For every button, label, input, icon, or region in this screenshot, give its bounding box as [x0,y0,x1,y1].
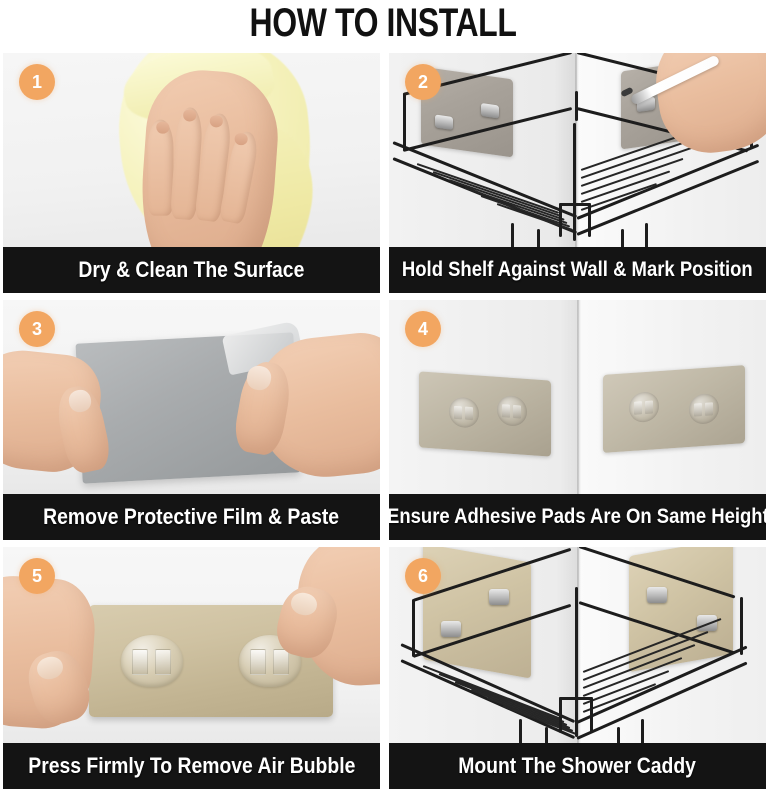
hand [136,67,282,247]
step-number-badge-3: 3 [19,311,55,347]
step-5-photo: 5 [3,547,380,743]
post-center [575,91,578,121]
hook-mount-left [121,635,183,687]
step-caption-text-1: Dry & Clean The Surface [79,257,305,283]
center-ridge [573,123,576,241]
step-number-badge-1: 1 [19,64,55,100]
pad-emboss-right-a [629,391,659,423]
wall-corner-seam [577,300,581,494]
step-1-photo: 1 [3,53,380,247]
step-caption-bar-1: Dry & Clean The Surface [3,247,380,293]
step-panel-1: 1 Dry & Clean The Surface [3,53,380,293]
step-3-photo: 3 [3,300,380,494]
step-6-photo: 6 [389,547,766,743]
adhesive-pad-left [419,371,551,456]
hook-left-b [537,229,540,247]
hook-right-b [641,719,644,743]
step-caption-bar-3: Remove Protective Film & Paste [3,494,380,540]
step-number-badge-5: 5 [19,558,55,594]
step-number-badge-2: 2 [405,64,441,100]
step-panel-3: 3 Remove Protective Film & Paste [3,300,380,540]
step-2-photo: 2 [389,53,766,247]
step-caption-bar-5: Press Firmly To Remove Air Bubble [3,743,380,789]
step-caption-text-2: Hold Shelf Against Wall & Mark Position [402,258,753,282]
step-caption-bar-6: Mount The Shower Caddy [389,743,766,789]
step-panel-5: 5 Press Firmly To Remove Air Bubble [3,547,380,789]
pad-emboss-left-a [449,396,479,428]
page-title: HOW TO INSTALL [77,0,690,50]
step-caption-text-4: Ensure Adhesive Pads Are On Same Height [389,505,766,529]
finger-index [147,120,173,216]
hook-left-b [545,727,548,743]
center-cup-left [559,203,562,237]
how-to-install-infographic: HOW TO INSTALL 1 [0,0,766,791]
screw-cap-left-a [435,115,453,131]
step-number-badge-4: 4 [405,311,441,347]
screw-cap-left-a [441,621,461,637]
pad-emboss-right-b [689,393,719,425]
center-cup-right [588,203,591,237]
screw-cap-left-b [481,103,499,119]
adhesive-pad-right [603,365,745,453]
hook-right-b [645,223,648,247]
hook-left-a [519,719,522,743]
step-caption-text-3: Remove Protective Film & Paste [44,504,340,530]
hook-right-a [617,727,620,743]
step-caption-text-5: Press Firmly To Remove Air Bubble [28,753,355,779]
screw-cap-left-b [489,589,509,605]
step-caption-text-6: Mount The Shower Caddy [459,753,697,779]
center-ridge [575,587,578,737]
center-cup-right [590,697,593,733]
step-panel-6: 6 Mount The Shower Caddy [389,547,766,789]
pad-emboss-left-b [497,395,527,427]
step-caption-bar-4: Ensure Adhesive Pads Are On Same Height [389,494,766,540]
screw-cap-right-a [647,587,667,603]
step-panel-4: 4 Ensure Adhesive Pads Are On Same Heigh… [389,300,766,540]
step-number-badge-6: 6 [405,558,441,594]
hook-right-a [621,229,624,247]
step-panel-2: 2 Hold Shelf Against Wall & Mark Positio… [389,53,766,293]
center-cup-top [559,203,591,206]
hook-left-a [511,223,514,247]
step-4-photo: 4 [389,300,766,494]
step-caption-bar-2: Hold Shelf Against Wall & Mark Position [389,247,766,293]
post-left [403,93,406,151]
center-cup-left [559,697,562,733]
center-cup-top [559,697,593,700]
steps-grid: 1 Dry & Clean The Surface [3,53,766,791]
